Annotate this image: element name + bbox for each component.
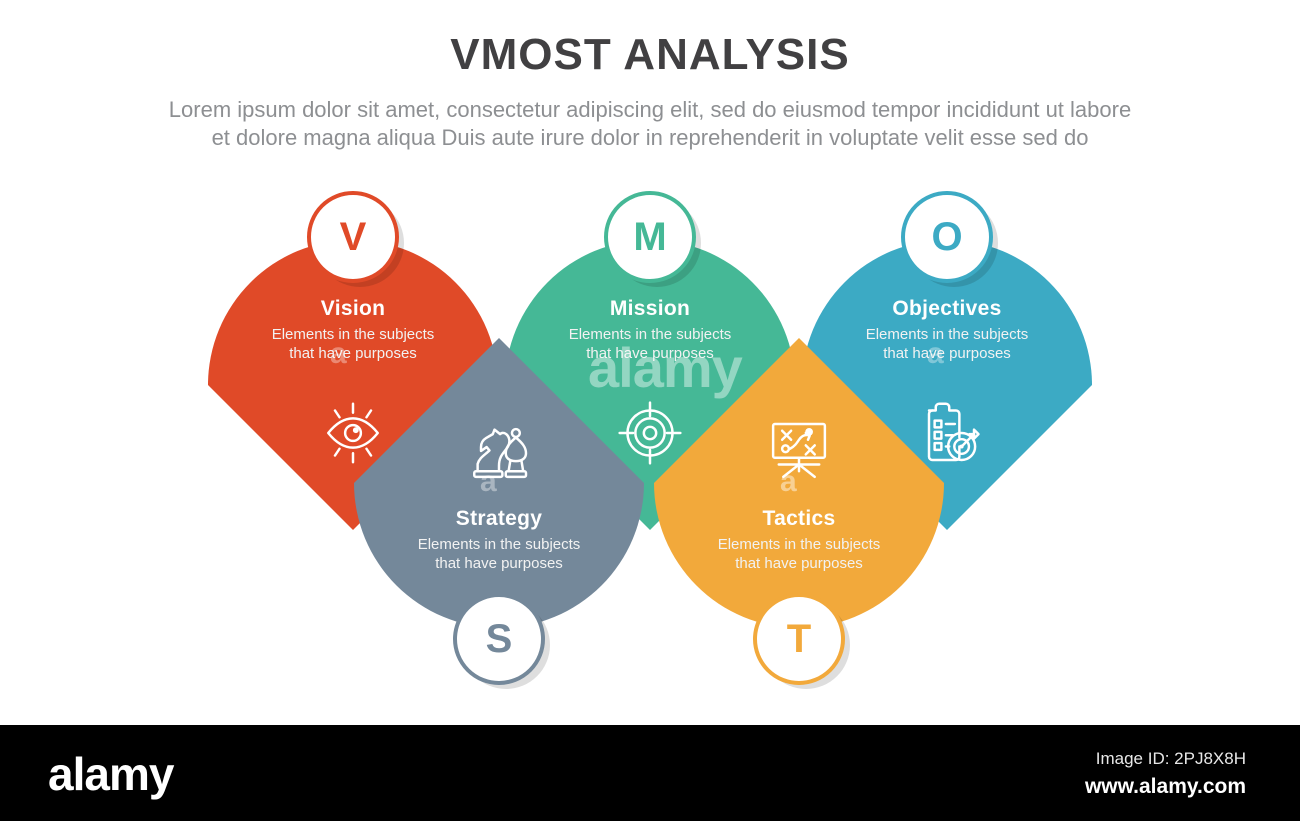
page-title: VMOST ANALYSIS bbox=[0, 30, 1300, 80]
mission-badge-letter: M bbox=[633, 217, 666, 257]
subtitle-line-1: Lorem ipsum dolor sit amet, consectetur … bbox=[60, 96, 1240, 124]
page-subtitle: Lorem ipsum dolor sit amet, consectetur … bbox=[60, 96, 1240, 152]
footer-bar: alamy Image ID: 2PJ8X8H www.alamy.com bbox=[0, 725, 1300, 821]
alamy-logo: alamy bbox=[48, 747, 173, 801]
eye-icon bbox=[317, 397, 389, 469]
objectives-badge-letter: O bbox=[931, 217, 962, 257]
footer-divider bbox=[0, 715, 1300, 725]
strategy-board-icon bbox=[763, 415, 835, 487]
strategy-badge-letter: S bbox=[486, 619, 513, 659]
infographic-canvas: VMOST ANALYSIS Lorem ipsum dolor sit ame… bbox=[0, 0, 1300, 720]
alamy-url: www.alamy.com bbox=[946, 775, 1246, 799]
mission-badge[interactable]: M bbox=[606, 193, 694, 281]
vision-badge[interactable]: V bbox=[309, 193, 397, 281]
vmost-diagram: V M O S T Vision Elements in the subject… bbox=[0, 175, 1300, 705]
clipboard-target-icon bbox=[911, 397, 983, 469]
vision-badge-letter: V bbox=[340, 217, 367, 257]
objectives-badge[interactable]: O bbox=[903, 193, 991, 281]
strategy-badge[interactable]: S bbox=[455, 595, 543, 683]
tactics-badge-letter: T bbox=[787, 619, 811, 659]
chess-pieces-icon bbox=[463, 415, 535, 487]
target-crosshair-icon bbox=[614, 397, 686, 469]
image-id-label: Image ID: 2PJ8X8H bbox=[946, 749, 1246, 769]
subtitle-line-2: et dolore magna aliqua Duis aute irure d… bbox=[60, 124, 1240, 152]
tactics-badge[interactable]: T bbox=[755, 595, 843, 683]
